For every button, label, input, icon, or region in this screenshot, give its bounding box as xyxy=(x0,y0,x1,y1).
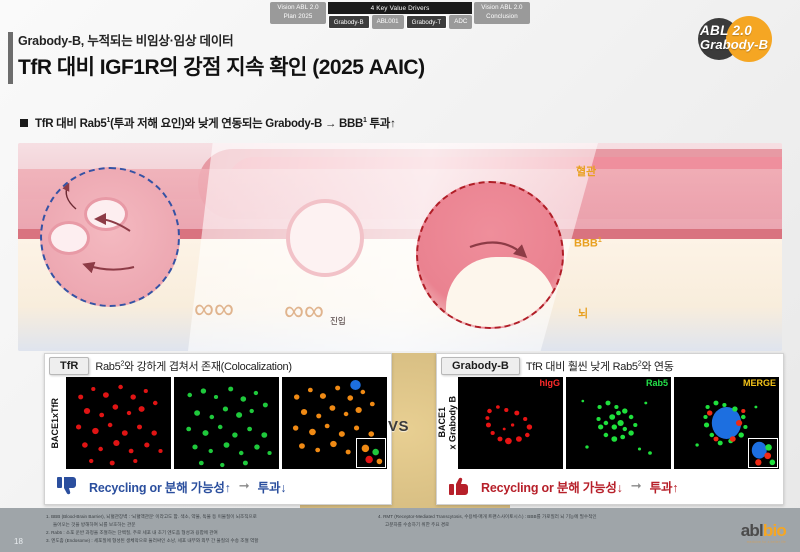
footnote-4: 4. RMT (Receptor-Mediated Transcytosis, … xyxy=(378,513,708,521)
page-title-block: Grabody-B, 누적되는 비임상·임상 데이터 TfR 대비 IGF1R의… xyxy=(18,30,425,81)
rmt-pathway-zoom-circle xyxy=(416,181,564,329)
tfr-conclusion-bar: Recycling or 분해 가능성↑ ➞ 투과↓ xyxy=(45,469,391,503)
recycling-endosome-vesicle xyxy=(84,197,128,231)
nav-item-vision-plan-line1: Vision ABL 2.0 xyxy=(277,4,318,13)
abl-logo-part-2: bio xyxy=(763,521,786,540)
abl-bio-wordmark: ablbio xyxy=(741,522,786,539)
logo-text: ABL 2.0 Grabody-B xyxy=(700,23,790,52)
nav-item-grabody-t[interactable]: Grabody-T xyxy=(406,15,448,29)
thumbs-up-icon xyxy=(449,476,473,496)
tfr-vertical-axis-label: BACE1xTfR xyxy=(47,377,63,469)
abl-bio-logo: ablbio medicine for a better life xyxy=(741,522,786,544)
nav-group: Vision ABL 2.0 Plan 2025 4 Key Value Dri… xyxy=(270,2,529,29)
logo-line-1: ABL 2.0 xyxy=(700,23,790,38)
tfr-micrograph-green xyxy=(174,377,279,469)
footnote-1: 1. BBB (Blood-Brain Barrier), 뇌혈관장벽 : '뇌… xyxy=(46,513,376,521)
grabody-b-description: TfR 대비 훨씬 낮게 Rab52와 연동 xyxy=(526,358,674,374)
grabody-b-vlabel-line1: BACE1 xyxy=(437,408,447,439)
tfr-image-row: BACE1xTfR xyxy=(45,377,391,469)
grabody-b-merge-inset xyxy=(748,438,778,468)
label-zone-vessel: 혈관 xyxy=(576,163,596,179)
footnotes-left: 1. BBB (Blood-Brain Barrier), 뇌혈관장벽 : '뇌… xyxy=(46,513,376,545)
page-subtitle: Grabody-B, 누적되는 비임상·임상 데이터 xyxy=(18,30,425,49)
tfr-panel-header: TfR Rab52와 강하게 겹쳐서 존재(Colocalization) xyxy=(45,354,391,377)
page-number: 18 xyxy=(14,537,23,546)
thumbs-down-icon xyxy=(57,476,81,496)
tfr-description-b: 와 강하게 겹쳐서 존재(Colocalization) xyxy=(124,361,292,373)
nav-center-group: 4 Key Value Drivers Grabody-B ABL001 Gra… xyxy=(328,2,473,29)
abl-logo-part-1: abl xyxy=(741,521,763,540)
tfr-merge-inset xyxy=(356,438,386,468)
footer: 1. BBB (Blood-Brain Barrier), 뇌혈관장벽 : '뇌… xyxy=(0,508,800,552)
grabody-b-panel-header: Grabody-B TfR 대비 훨씬 낮게 Rab52와 연동 xyxy=(437,354,783,377)
tfr-description: Rab52와 강하게 겹쳐서 존재(Colocalization) xyxy=(95,358,291,374)
tfr-conclusion-text: Recycling or 분해 가능성↑ xyxy=(89,477,231,496)
grabody-b-micrograph-higg: hIgG xyxy=(458,377,563,469)
grabody-b-conclusion-bar: Recycling or 분해 가능성↓ ➞ 투과↑ xyxy=(437,469,783,503)
footnotes-right: 4. RMT (Receptor-Mediated Transcytosis, … xyxy=(378,513,708,529)
footnote-4-cont: 고분자를 수송하기 위한 주요 경로 xyxy=(378,521,708,529)
grabody-b-conclusion-result: 투과↑ xyxy=(650,477,679,496)
grabody-b-description-b: 와 연동 xyxy=(641,361,673,373)
tfr-pathway-zoom-circle xyxy=(40,167,180,307)
grabody-b-caption-rab5: Rab5 xyxy=(646,378,668,388)
nav-item-vision-conclusion-line2: Conclusion xyxy=(481,13,522,22)
page-title: TfR 대비 IGF1R의 강점 지속 확인 (2025 AAIC) xyxy=(18,51,425,81)
grabody-b-tag[interactable]: Grabody-B xyxy=(441,357,520,375)
grabody-b-conclusion-text: Recycling or 분해 가능성↓ xyxy=(481,477,623,496)
tfr-conclusion-result: 투과↓ xyxy=(258,477,287,496)
tfr-comparison-panel: TfR Rab52와 강하게 겹쳐서 존재(Colocalization) BA… xyxy=(44,353,392,505)
grabody-b-micrograph-merge: MERGE xyxy=(674,377,779,469)
grabody-b-description-a: TfR 대비 훨씬 낮게 Rab5 xyxy=(526,361,638,373)
footnote-2: 2. Rab5 : 소포 운반 과정을 조절하는 단백질, 주로 세포 내 초기… xyxy=(46,529,376,537)
nav-item-abl001[interactable]: ABL001 xyxy=(372,15,404,29)
grabody-b-image-row: BACE1x Grabody B hIgG Rab5 xyxy=(437,377,783,469)
nav-sub-row: Grabody-B ABL001 Grabody-T ADC xyxy=(328,15,473,29)
key-message-text: TfR 대비 Rab51(투과 저해 요인)와 낮게 연동되는 Grabody-… xyxy=(35,115,396,131)
nav-item-vision-plan[interactable]: Vision ABL 2.0 Plan 2025 xyxy=(270,2,325,24)
grabody-b-logo: ABL 2.0 Grabody-B xyxy=(692,12,792,64)
key-message-part-b: (투과 저해 요인)와 낮게 연동되는 Grabody-B → BBB xyxy=(110,118,363,130)
nav-item-adc[interactable]: ADC xyxy=(449,15,472,29)
grabody-b-caption-merge: MERGE xyxy=(743,378,776,388)
grabody-b-comparison-panel: Grabody-B TfR 대비 훨씬 낮게 Rab52와 연동 BACE1x … xyxy=(436,353,784,505)
grabody-b-micrograph-rab5: Rab5 xyxy=(566,377,671,469)
tfr-micrograph-red xyxy=(66,377,171,469)
key-message-bullet: TfR 대비 Rab51(투과 저해 요인)와 낮게 연동되는 Grabody-… xyxy=(20,115,396,131)
footnote-3: 3. 엔도좀 (Endosome) : 세포질에 형성된 생체막으로 둘러싸인 … xyxy=(46,537,376,545)
label-entry: 진입 xyxy=(330,316,346,327)
tfr-description-a: Rab5 xyxy=(95,361,120,373)
grabody-b-vlabel-line2: x Grabody B xyxy=(447,396,457,450)
label-zone-bbb: BBB1 xyxy=(574,237,602,250)
bullet-square-icon xyxy=(20,119,28,127)
label-zone-bbb-text: BBB xyxy=(574,238,598,250)
tfr-micrograph-merge xyxy=(282,377,387,469)
late-endosome-vesicle xyxy=(48,221,90,255)
top-navigation: Vision ABL 2.0 Plan 2025 4 Key Value Dri… xyxy=(0,0,800,24)
logo-line-2: Grabody-B xyxy=(700,37,790,52)
neuron-squiggle-icon: ∞∞ xyxy=(194,293,234,325)
tfr-conclusion-arrow-icon: ➞ xyxy=(239,478,250,494)
label-zone-bbb-sup: 1 xyxy=(598,237,602,244)
nav-section-title: 4 Key Value Drivers xyxy=(328,2,473,14)
bbb-transcytosis-diagram: ∞∞ ∞∞ 진입 초기 엔도좀3 Recycling (투과 X) 후기 엔도좀… xyxy=(18,143,782,351)
neuron-squiggle-icon: ∞∞ xyxy=(284,295,324,327)
vs-label: VS xyxy=(388,418,409,435)
nav-item-grabody-b[interactable]: Grabody-B xyxy=(328,15,370,29)
grabody-b-conclusion-arrow-icon: ➞ xyxy=(631,478,642,494)
nav-item-vision-plan-line2: Plan 2025 xyxy=(277,13,318,22)
abluminal-space xyxy=(446,257,556,329)
early-endosome-vesicle xyxy=(286,199,364,277)
tfr-vertical-axis-label-text: BACE1xTfR xyxy=(50,398,60,449)
footnote-1-cont: 들어오는 것을 방해하여 뇌를 보호하는 관문 xyxy=(46,521,376,529)
grabody-b-caption-higg: hIgG xyxy=(540,378,561,388)
label-zone-brain: 뇌 xyxy=(578,305,588,321)
grabody-b-vertical-axis-label: BACE1x Grabody B xyxy=(439,377,455,469)
nav-item-vision-conclusion-line1: Vision ABL 2.0 xyxy=(481,4,522,13)
tfr-tag[interactable]: TfR xyxy=(49,357,89,375)
nav-item-vision-conclusion[interactable]: Vision ABL 2.0 Conclusion xyxy=(474,2,529,24)
key-message-part-a: TfR 대비 Rab5 xyxy=(35,118,107,130)
abl-logo-tagline: medicine for a better life xyxy=(741,540,786,544)
title-accent-bar xyxy=(8,32,13,84)
key-message-part-c: 투과↑ xyxy=(367,118,396,130)
grabody-b-vertical-axis-label-text: BACE1x Grabody B xyxy=(437,396,458,450)
